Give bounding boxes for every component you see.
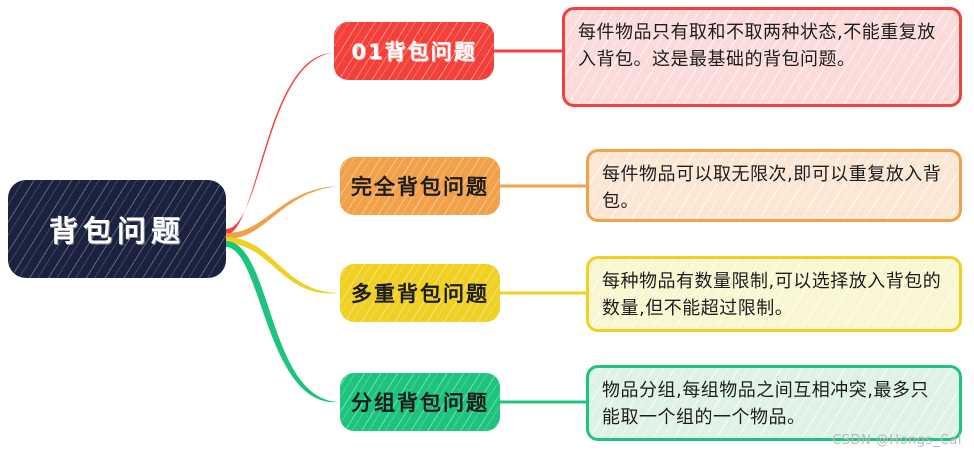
branch-node-complete-knapsack[interactable]: 完全背包问题	[340, 157, 500, 215]
connector-root-to-branch-1	[226, 186, 339, 239]
root-node[interactable]: 背包问题	[8, 180, 226, 278]
branch-node-01-knapsack[interactable]: 01背包问题	[334, 22, 494, 80]
description-card-complete-knapsack: 每件物品可以取无限次,即可以重复放入背包。	[586, 149, 962, 222]
root-node-label: 背包问题	[49, 208, 185, 250]
branch-node-label: 01背包问题	[351, 36, 476, 66]
branch-node-multiple-knapsack[interactable]: 多重背包问题	[340, 264, 500, 322]
description-text: 物品分组,每组物品之间互相冲突,最多只能取一个组的一个物品。	[602, 377, 946, 432]
description-text: 每件物品可以取无限次,即可以重复放入背包。	[602, 161, 946, 216]
description-card-multiple-knapsack: 每种物品有数量限制,可以选择放入背包的数量,但不能超过限制。	[586, 256, 962, 332]
description-text: 每种物品有数量限制,可以选择放入背包的数量,但不能超过限制。	[602, 268, 946, 323]
connector-root-to-branch-3	[226, 241, 339, 402]
branch-node-grouped-knapsack[interactable]: 分组背包问题	[340, 373, 500, 431]
description-text: 每件物品只有取和不取两种状态,不能重复放入背包。这是最基础的背包问题。	[578, 19, 946, 74]
description-card-01-knapsack: 每件物品只有取和不取两种状态,不能重复放入背包。这是最基础的背包问题。	[562, 7, 962, 107]
watermark: CSDN @Hongs_Cai	[832, 433, 962, 448]
branch-node-label: 多重背包问题	[351, 278, 489, 308]
description-card-grouped-knapsack: 物品分组,每组物品之间互相冲突,最多只能取一个组的一个物品。	[586, 365, 962, 441]
branch-node-label: 分组背包问题	[351, 387, 489, 417]
mindmap-canvas: 背包问题 01背包问题 完全背包问题 多重背包问题 分组背包问题 每件物品只有取…	[0, 0, 974, 456]
connector-root-to-branch-2	[226, 237, 339, 293]
branch-node-label: 完全背包问题	[351, 171, 489, 201]
